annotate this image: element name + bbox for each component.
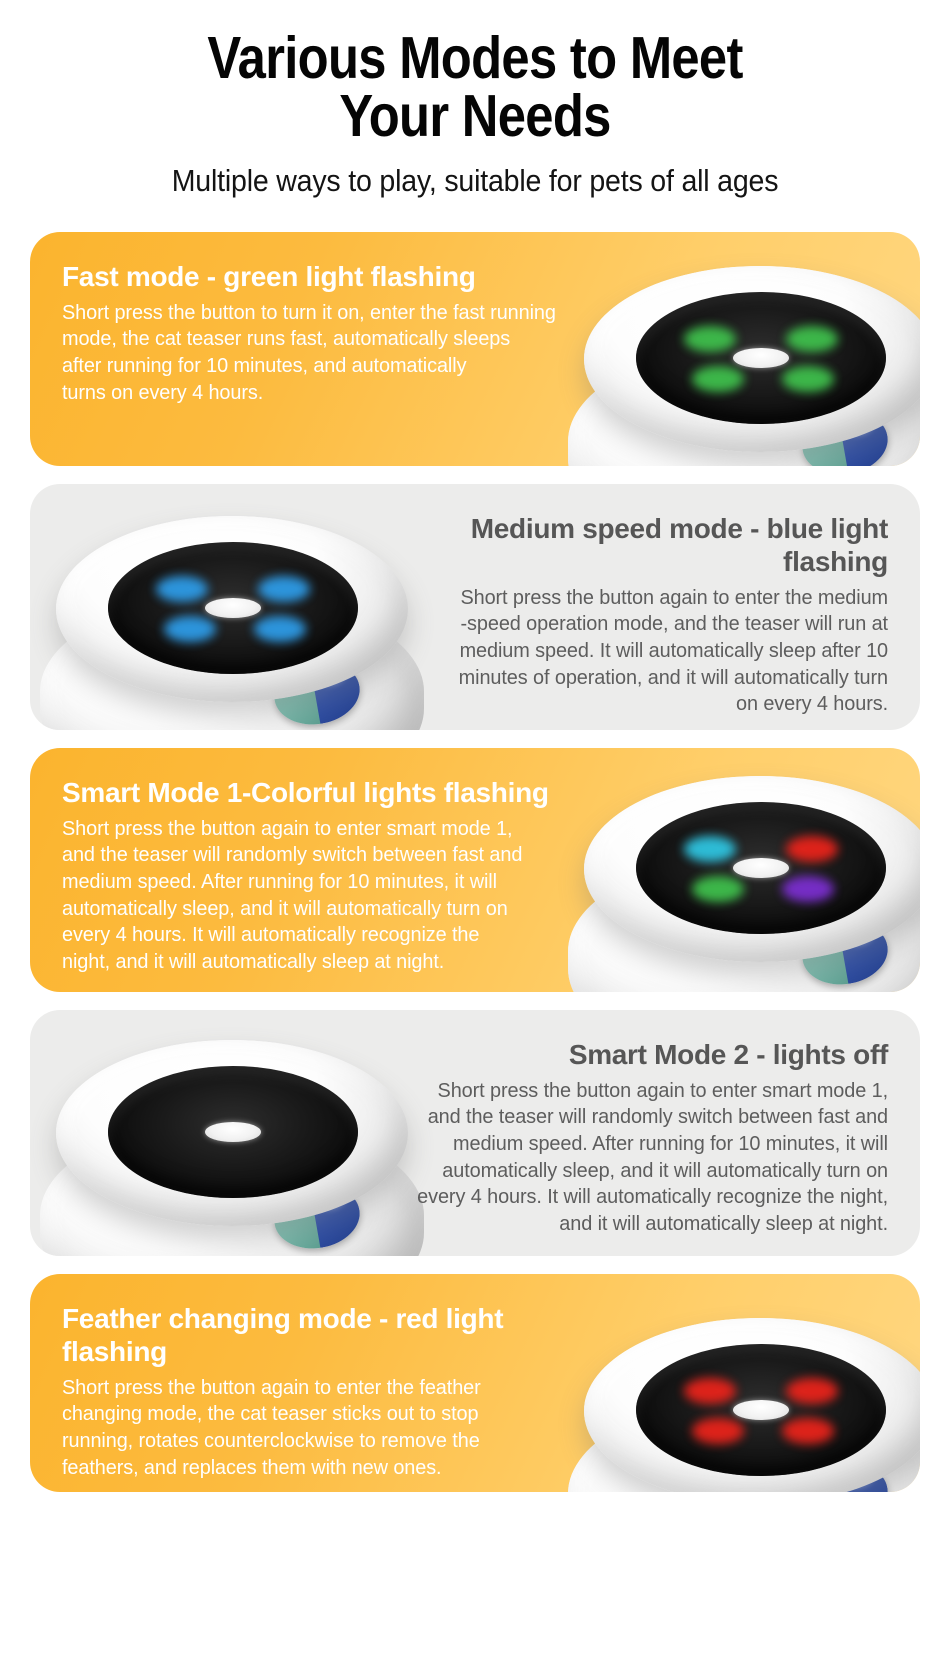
mode-description-line: medium speed. After running for 10 minut…: [376, 1131, 888, 1158]
mode-copy: Fast mode - green light flashingShort pr…: [30, 232, 590, 435]
mode-description-line: Short press the button again to enter sm…: [376, 1078, 888, 1105]
device-collar: [584, 776, 920, 962]
cat-teaser-device: [550, 750, 920, 992]
mode-description-line: Short press the button again to enter th…: [62, 1375, 574, 1402]
mode-copy: Medium speed mode - blue light flashingS…: [360, 484, 920, 730]
mode-description-line: on every 4 hours.: [376, 691, 888, 718]
page-subtitle: Multiple ways to play, suitable for pets…: [38, 163, 912, 199]
led-bl: [164, 616, 216, 642]
cat-teaser-device: [550, 240, 920, 466]
led-tr: [786, 836, 838, 862]
mode-card-smart-mode-2: Smart Mode 2 - lights offShort press the…: [30, 1010, 920, 1256]
mode-title-medium-speed-mode: Medium speed mode - blue light flashing: [360, 512, 888, 578]
cat-teaser-device: [550, 1292, 920, 1492]
button-teal-half: [797, 412, 850, 466]
button-highlight: [315, 1188, 347, 1211]
led-br: [782, 1418, 834, 1444]
device-power-button[interactable]: [797, 405, 892, 466]
mode-description-feather-changing-mode: Short press the button again to enter th…: [62, 1375, 574, 1482]
mode-description-line: medium speed. After running for 10 minut…: [62, 869, 574, 896]
led-bl: [692, 876, 744, 902]
mode-description-line: every 4 hours. It will automatically rec…: [62, 922, 574, 949]
button-teal-half: [269, 1186, 322, 1255]
page-title-line-2: Your Needs: [67, 88, 884, 146]
mode-copy: Smart Mode 2 - lights offShort press the…: [360, 1010, 920, 1256]
mode-description-line: feathers, and replaces them with new one…: [62, 1455, 574, 1482]
mode-title-smart-mode-1: Smart Mode 1-Colorful lights flashing: [62, 776, 590, 809]
device-led-lens: [108, 542, 358, 674]
device-power-button[interactable]: [797, 1457, 892, 1492]
mode-description-line: and it will automatically sleep at night…: [376, 1211, 888, 1238]
button-highlight: [843, 924, 875, 947]
product-image-fast-mode: [550, 240, 920, 466]
mode-copy: Feather changing mode - red light flashi…: [30, 1274, 590, 1492]
mode-title-smart-mode-2: Smart Mode 2 - lights off: [360, 1038, 888, 1071]
device-power-button[interactable]: [269, 1179, 364, 1255]
mode-description-line: turns on every 4 hours.: [62, 380, 574, 407]
button-teal-half: [269, 662, 322, 730]
button-blue-half: [838, 405, 893, 466]
device-collar: [56, 1040, 408, 1226]
page-header: Various Modes to Meet Your Needs Multipl…: [0, 0, 950, 199]
device-collar: [584, 1318, 920, 1492]
device-center-slit: [733, 858, 789, 878]
page-title: Various Modes to Meet Your Needs: [67, 30, 884, 146]
mode-description-line: medium speed. It will automatically slee…: [376, 638, 888, 665]
mode-card-feather-changing-mode: Feather changing mode - red light flashi…: [30, 1274, 920, 1492]
button-highlight: [315, 664, 347, 687]
device-base: [568, 1396, 920, 1492]
mode-title-feather-changing-mode: Feather changing mode - red light flashi…: [62, 1302, 590, 1368]
product-image-smart-mode-1: [550, 750, 920, 992]
led-br: [254, 616, 306, 642]
device-base: [568, 854, 920, 992]
mode-card-inner: Smart Mode 2 - lights offShort press the…: [30, 1010, 920, 1256]
product-image-feather-changing-mode: [550, 1292, 920, 1492]
led-tl: [684, 836, 736, 862]
mode-card-list: Fast mode - green light flashingShort pr…: [0, 232, 950, 1492]
mode-description-line: automatically sleep, and it will automat…: [62, 896, 574, 923]
mode-description-line: minutes of operation, and it will automa…: [376, 665, 888, 692]
led-tl: [684, 1378, 736, 1404]
button-blue-half: [310, 655, 365, 724]
mode-description-line: Short press the button to turn it on, en…: [62, 300, 574, 327]
device-led-lens: [108, 1066, 358, 1198]
device-power-button[interactable]: [797, 915, 892, 991]
device-center-slit: [205, 598, 261, 618]
led-br: [782, 876, 834, 902]
led-bl: [692, 1418, 744, 1444]
device-power-button[interactable]: [269, 655, 364, 730]
led-tr: [258, 576, 310, 602]
led-bl: [692, 366, 744, 392]
mode-card-inner: Smart Mode 1-Colorful lights flashingSho…: [30, 748, 920, 992]
led-tr: [786, 326, 838, 352]
mode-card-inner: Medium speed mode - blue light flashingS…: [30, 484, 920, 730]
mode-description-fast-mode: Short press the button to turn it on, en…: [62, 300, 574, 407]
button-blue-half: [838, 1457, 893, 1492]
infographic-page: Various Modes to Meet Your Needs Multipl…: [0, 0, 950, 1676]
mode-description-smart-mode-2: Short press the button again to enter sm…: [376, 1078, 888, 1238]
device-led-lens: [636, 1344, 886, 1476]
mode-description-line: Short press the button again to enter sm…: [62, 816, 574, 843]
device-base: [568, 344, 920, 466]
mode-card-medium-speed-mode: Medium speed mode - blue light flashingS…: [30, 484, 920, 730]
mode-description-line: night, and it will automatically sleep a…: [62, 949, 574, 976]
device-led-lens: [636, 292, 886, 424]
led-br: [782, 366, 834, 392]
mode-description-line: after running for 10 minutes, and automa…: [62, 353, 574, 380]
device-center-slit: [733, 1400, 789, 1420]
button-blue-half: [310, 1179, 365, 1248]
device-center-slit: [733, 348, 789, 368]
mode-description-line: changing mode, the cat teaser sticks out…: [62, 1401, 574, 1428]
button-teal-half: [797, 1464, 850, 1492]
led-tr: [786, 1378, 838, 1404]
mode-description-line: running, rotates counterclockwise to rem…: [62, 1428, 574, 1455]
mode-description-line: automatically sleep, and it will automat…: [376, 1158, 888, 1185]
device-center-slit: [205, 1122, 261, 1142]
mode-description-line: Short press the button again to enter th…: [376, 585, 888, 612]
mode-description-line: and the teaser will randomly switch betw…: [62, 842, 574, 869]
mode-description-smart-mode-1: Short press the button again to enter sm…: [62, 816, 574, 976]
mode-description-line: mode, the cat teaser runs fast, automati…: [62, 326, 574, 353]
mode-description-line: every 4 hours. It will automatically rec…: [376, 1184, 888, 1211]
button-teal-half: [797, 922, 850, 991]
led-tl: [156, 576, 208, 602]
device-collar: [584, 266, 920, 452]
device-led-lens: [636, 802, 886, 934]
device-collar: [56, 516, 408, 702]
led-tl: [684, 326, 736, 352]
mode-card-inner: Feather changing mode - red light flashi…: [30, 1274, 920, 1492]
mode-card-smart-mode-1: Smart Mode 1-Colorful lights flashingSho…: [30, 748, 920, 992]
button-highlight: [843, 1466, 875, 1489]
mode-description-line: -speed operation mode, and the teaser wi…: [376, 611, 888, 638]
mode-copy: Smart Mode 1-Colorful lights flashingSho…: [30, 748, 590, 992]
mode-description-line: and the teaser will randomly switch betw…: [376, 1104, 888, 1131]
page-title-line-1: Various Modes to Meet: [67, 30, 884, 88]
button-highlight: [843, 414, 875, 437]
mode-card-inner: Fast mode - green light flashingShort pr…: [30, 232, 920, 466]
mode-description-medium-speed-mode: Short press the button again to enter th…: [376, 585, 888, 718]
mode-card-fast-mode: Fast mode - green light flashingShort pr…: [30, 232, 920, 466]
button-blue-half: [838, 915, 893, 984]
mode-title-fast-mode: Fast mode - green light flashing: [62, 260, 590, 293]
